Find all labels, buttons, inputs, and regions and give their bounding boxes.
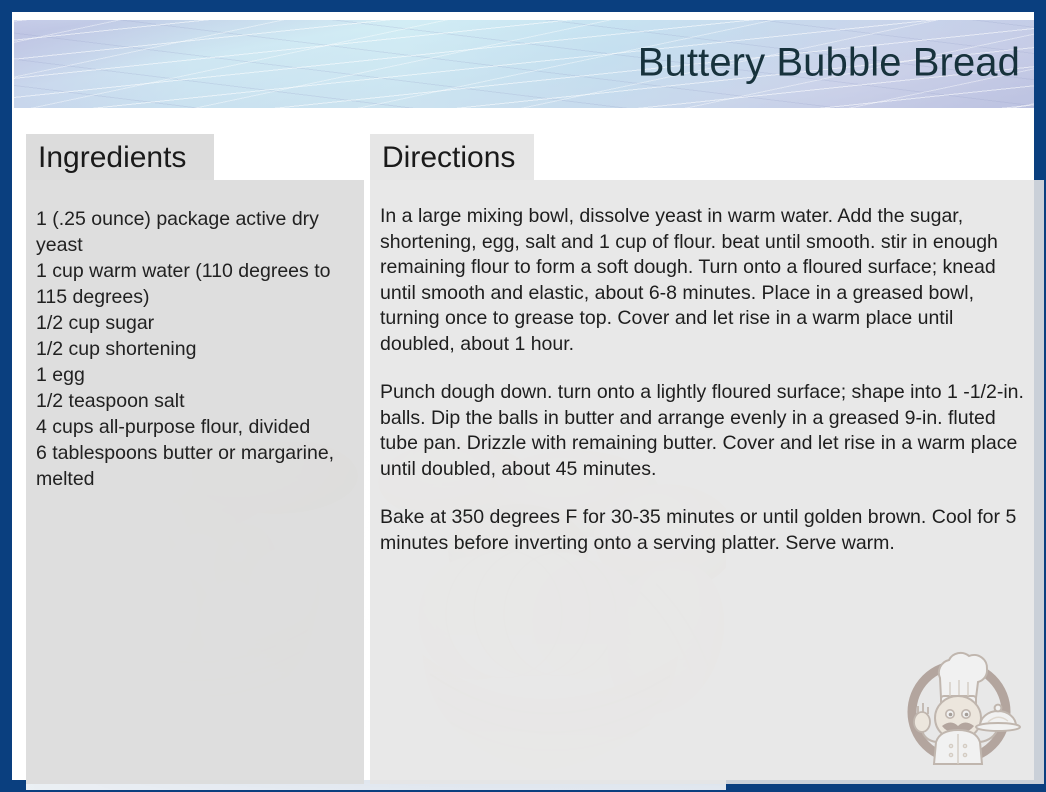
ingredients-body: 1 (.25 ounce) package active dry yeast 1… [26,180,364,784]
title-banner: Buttery Bubble Bread [14,20,1034,108]
page-title: Buttery Bubble Bread [638,41,1020,86]
directions-panel: Directions In a large mixing bowl, disso… [370,134,1044,784]
ingredients-panel: Ingredients 1 (.25 ounce) package active… [26,134,364,784]
directions-paragraph: Punch dough down. turn onto a lightly fl… [380,380,1032,482]
directions-body: In a large mixing bowl, dissolve yeast i… [370,180,1044,784]
directions-paragraph: In a large mixing bowl, dissolve yeast i… [380,204,1032,357]
ingredients-heading-tab: Ingredients [26,134,214,180]
list-item: 1/2 teaspoon salt [36,388,354,414]
list-item: 6 tablespoons butter or margarine, melte… [36,440,354,492]
directions-paragraph: Bake at 350 degrees F for 30-35 minutes … [380,505,1032,556]
ingredients-list: 1 (.25 ounce) package active dry yeast 1… [36,206,354,492]
directions-heading-tab: Directions [370,134,534,180]
list-item: 1/2 cup shortening [36,336,354,362]
directions-heading: Directions [382,143,515,173]
list-item: 1 cup warm water (110 degrees to 115 deg… [36,258,354,310]
directions-paragraphs: In a large mixing bowl, dissolve yeast i… [380,204,1032,556]
list-item: 4 cups all-purpose flour, divided [36,414,354,440]
list-item: 1/2 cup sugar [36,310,354,336]
ingredients-heading: Ingredients [38,143,186,173]
recipe-card: Buttery Bubble Bread [0,0,1046,792]
list-item: 1 egg [36,362,354,388]
list-item: 1 (.25 ounce) package active dry yeast [36,206,354,258]
